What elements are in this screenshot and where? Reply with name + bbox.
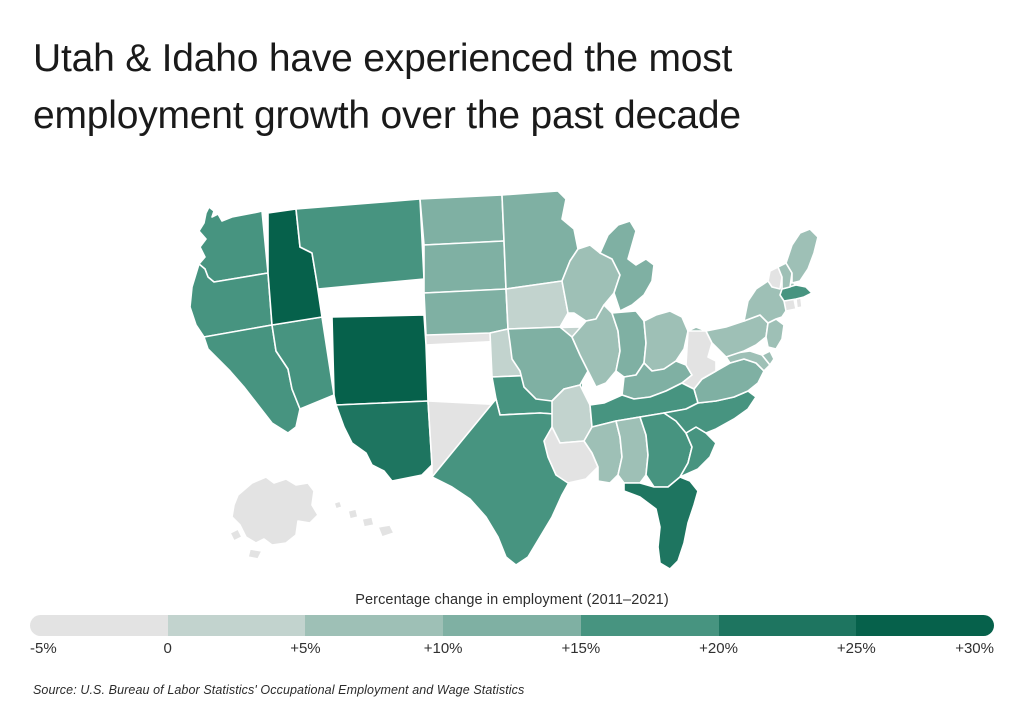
map-region-ne[interactable]: Nebraska — +10% to +15% <box>424 289 508 335</box>
source-note: Source: U.S. Bureau of Labor Statistics'… <box>33 683 524 697</box>
legend-tick: -5% <box>30 640 57 657</box>
legend-tick: +25% <box>837 640 876 657</box>
map-region-wa[interactable]: Washington — +15% to +20% <box>199 207 268 282</box>
map-region-nd[interactable]: North Dakota — +10% to +15% <box>420 195 504 245</box>
legend-tick: +10% <box>424 640 463 657</box>
legend: Percentage change in employment (2011–20… <box>30 592 994 662</box>
legend-tick: +30% <box>955 640 994 657</box>
chart-page: Utah & Idaho have experienced the most e… <box>0 0 1024 715</box>
map-region-ak[interactable]: Alaska — -5% to 0 <box>230 477 318 559</box>
legend-band-5 <box>581 615 719 636</box>
legend-band-1 <box>30 615 168 636</box>
legend-tick: +15% <box>561 640 600 657</box>
legend-band-7 <box>856 615 994 636</box>
map-region-fl[interactable]: Florida — +20% to +25% <box>624 477 698 569</box>
map-svg: Washington — +15% to +20%Oregon — +15% t… <box>0 165 1024 585</box>
legend-title: Percentage change in employment (2011–20… <box>30 592 994 608</box>
map-region-hi[interactable]: Hawaii — -5% to 0 <box>334 501 394 537</box>
legend-tick: 0 <box>164 640 172 657</box>
legend-band-6 <box>719 615 857 636</box>
map-region-ut[interactable]: Utah — +25% and above <box>332 315 428 405</box>
choropleth-map: Washington — +15% to +20%Oregon — +15% t… <box>0 165 1024 585</box>
legend-band-2 <box>168 615 306 636</box>
page-title: Utah & Idaho have experienced the most e… <box>33 30 953 145</box>
map-region-sd[interactable]: South Dakota — +10% to +15% <box>424 241 506 293</box>
legend-color-bar <box>30 615 994 636</box>
map-region-mt[interactable]: Montana — +15% to +20% <box>296 199 424 289</box>
legend-band-3 <box>305 615 443 636</box>
legend-tick: +5% <box>290 640 320 657</box>
map-region-oh[interactable]: Ohio — +5% to +10% <box>644 311 688 371</box>
map-region-az[interactable]: Arizona — +20% to +25% <box>336 401 432 481</box>
legend-band-4 <box>443 615 581 636</box>
map-region-ia[interactable]: Iowa — 0 to +5% <box>506 281 568 329</box>
legend-tick: +20% <box>699 640 738 657</box>
legend-tick-labels: -5%0+5%+10%+15%+20%+25%+30% <box>30 640 994 662</box>
